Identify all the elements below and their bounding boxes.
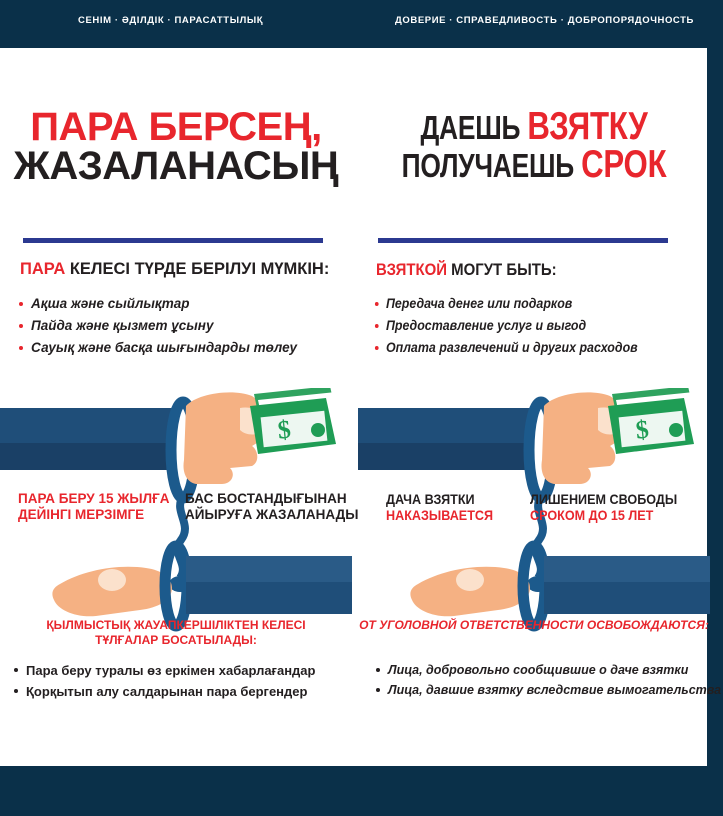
- list-item: Лица, добровольно сообщившие о даче взят…: [376, 660, 721, 680]
- kazakh-footer-heading-line1: ҚЫЛМЫСТЫҚ ЖАУАПКЕРШІЛІКТЕН КЕЛЕСІ: [0, 618, 352, 633]
- bottom-navy-band: [0, 766, 723, 816]
- sleeve-upper-icon: [0, 408, 175, 470]
- russian-caption-right-line1: ЛИШЕНИЕМ СВОБОДЫ: [530, 491, 677, 507]
- list-item: Предоставление услуг и выгод: [374, 315, 638, 337]
- russian-divider-rule: [378, 238, 668, 243]
- kazakh-bullet-list: Ақша және сыйлықтар Пайда және қызмет ұс…: [18, 293, 297, 359]
- russian-headline-line2-red: СРОК: [581, 143, 666, 186]
- kazakh-section-heading-rest: КЕЛЕСІ ТҮРДЕ БЕРІЛУІ МҮМКІН:: [65, 260, 329, 278]
- kazakh-caption-left-line1: ПАРА БЕРУ 15 ЖЫЛҒА: [18, 491, 170, 507]
- list-item: Пара беру туралы өз еркімен хабарлағанда…: [14, 660, 315, 681]
- russian-caption-left: ДАЧА ВЗЯТКИ НАКАЗЫВАЕТСЯ: [386, 491, 493, 523]
- russian-bullet-list: Передача денег или подарков Предоставлен…: [374, 293, 661, 359]
- kazakh-headline-line1: ПАРА БЕРСЕҢ,: [0, 108, 352, 147]
- kazakh-footer-heading: ҚЫЛМЫСТЫҚ ЖАУАПКЕРШІЛІКТЕН КЕЛЕСІ ТҰЛҒАЛ…: [0, 618, 352, 648]
- russian-footer-heading-line1: ОТ УГОЛОВНОЙ ОТВЕТСТВЕННОСТИ ОСВОБОЖДАЮТ…: [358, 618, 710, 633]
- top-banner: СЕНІМ · ӘДІЛДІК · ПАРАСАТТЫЛЫҚ ДОВЕРИЕ ·…: [0, 0, 723, 48]
- russian-caption-right: ЛИШЕНИЕМ СВОБОДЫ СРОКОМ ДО 15 ЛЕТ: [530, 491, 677, 523]
- kazakh-headline-line2: ЖАЗАЛАНАСЫҢ: [0, 147, 352, 186]
- list-item: Оплата развлечений и других расходов: [374, 337, 638, 359]
- banknote-dollar-icon: $: [608, 388, 702, 454]
- list-item: Қорқытып алу салдарынан пара бергендер: [14, 681, 315, 702]
- russian-headline-line1-red: ВЗЯТКУ: [527, 105, 647, 148]
- sleeve-lower-icon: [186, 556, 352, 614]
- list-item: Пайда және қызмет ұсыну: [18, 315, 297, 337]
- list-item: Передача денег или подарков: [374, 293, 638, 315]
- russian-column: ДАЕШЬ ВЗЯТКУ ПОЛУЧАЕШЬ СРОК ВЗЯТКОЙ МОГУ…: [358, 48, 710, 748]
- russian-headline-line1: ДАЕШЬ ВЗЯТКУ: [393, 108, 675, 146]
- russian-footer-heading: ОТ УГОЛОВНОЙ ОТВЕТСТВЕННОСТИ ОСВОБОЖДАЮТ…: [358, 618, 710, 633]
- kazakh-caption-left: ПАРА БЕРУ 15 ЖЫЛҒА ДЕЙІНГІ МЕРЗІМГЕ: [18, 491, 170, 522]
- kazakh-section-heading: ПАРА КЕЛЕСІ ТҮРДЕ БЕРІЛУІ МҮМКІН:: [20, 260, 329, 279]
- open-palm-icon: [52, 567, 172, 617]
- kazakh-footer-list: Пара беру туралы өз еркімен хабарлағанда…: [14, 660, 315, 702]
- kazakh-caption-right-line2: АЙЫРУҒА ЖАЗАЛАНАДЫ: [185, 507, 358, 523]
- russian-headline-line2: ПОЛУЧАЕШЬ СРОК: [393, 146, 675, 184]
- sleeve-lower-icon: [544, 556, 710, 614]
- russian-headline-line1-dark: ДАЕШЬ: [420, 109, 527, 146]
- kazakh-divider-rule: [23, 238, 323, 243]
- russian-caption-left-line1: ДАЧА ВЗЯТКИ: [386, 491, 493, 507]
- russian-headline-line2-dark: ПОЛУЧАЕШЬ: [402, 147, 581, 184]
- kazakh-section-heading-accent: ПАРА: [20, 260, 65, 278]
- banner-text-russian: ДОВЕРИЕ · СПРАВЕДЛИВОСТЬ · ДОБРОПОРЯДОЧН…: [395, 15, 694, 26]
- russian-section-heading-accent: ВЗЯТКОЙ: [376, 260, 447, 279]
- russian-caption-left-line2: НАКАЗЫВАЕТСЯ: [386, 507, 493, 523]
- russian-caption-right-line2: СРОКОМ ДО 15 ЛЕТ: [530, 507, 677, 523]
- open-palm-icon: [410, 567, 530, 617]
- list-item: Сауық және басқа шығындарды төлеу: [18, 337, 297, 359]
- banner-text-kazakh: СЕНІМ · ӘДІЛДІК · ПАРАСАТТЫЛЫҚ: [78, 15, 263, 26]
- list-item: Лица, давшие взятку вследствие вымогател…: [376, 680, 721, 700]
- russian-section-heading-rest: МОГУТ БЫТЬ:: [447, 260, 557, 279]
- russian-section-heading: ВЗЯТКОЙ МОГУТ БЫТЬ:: [376, 260, 557, 280]
- sleeve-upper-icon: [358, 408, 533, 470]
- russian-footer-list: Лица, добровольно сообщившие о даче взят…: [376, 660, 721, 701]
- anticorruption-poster: СЕНІМ · ӘДІЛДІК · ПАРАСАТТЫЛЫҚ ДОВЕРИЕ ·…: [0, 0, 723, 816]
- list-item: Ақша және сыйлықтар: [18, 293, 297, 315]
- kazakh-caption-left-line2: ДЕЙІНГІ МЕРЗІМГЕ: [18, 507, 170, 523]
- banknote-dollar-icon: $: [250, 388, 344, 454]
- kazakh-caption-right: БАС БОСТАНДЫҒЫНАН АЙЫРУҒА ЖАЗАЛАНАДЫ: [185, 491, 358, 522]
- kazakh-footer-heading-line2: ТҰЛҒАЛАР БОСАТЫЛАДЫ:: [0, 633, 352, 648]
- russian-headline: ДАЕШЬ ВЗЯТКУ ПОЛУЧАЕШЬ СРОК: [358, 108, 710, 184]
- kazakh-headline: ПАРА БЕРСЕҢ, ЖАЗАЛАНАСЫҢ: [0, 108, 352, 186]
- kazakh-caption-right-line1: БАС БОСТАНДЫҒЫНАН: [185, 491, 358, 507]
- kazakh-column: ПАРА БЕРСЕҢ, ЖАЗАЛАНАСЫҢ ПАРА КЕЛЕСІ ТҮР…: [0, 48, 352, 748]
